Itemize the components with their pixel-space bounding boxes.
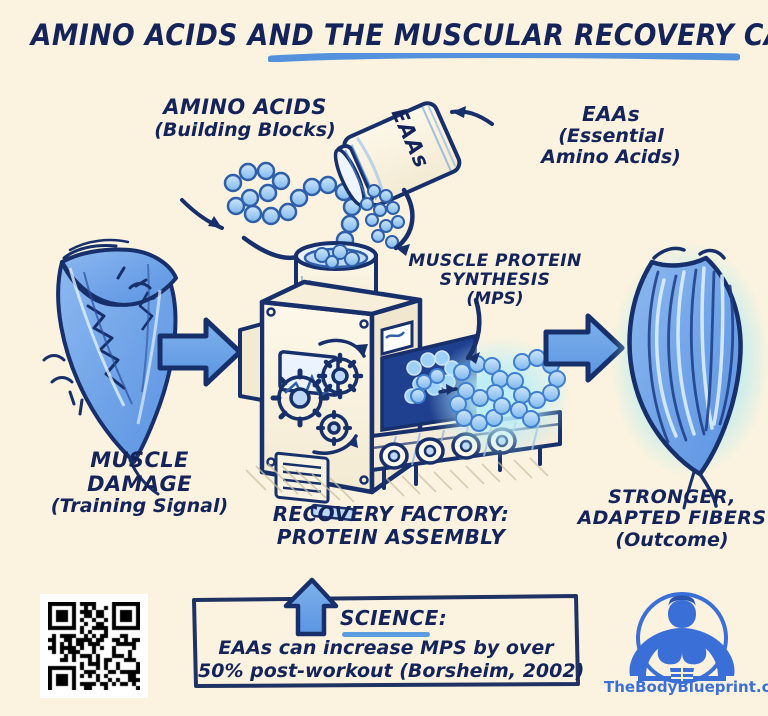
label-amino-acids-line2: (Building Blocks): [120, 120, 370, 141]
label-eaas-line2: (Essential: [496, 126, 726, 147]
brand-logo-text: TheBodyBlueprint.com: [604, 678, 760, 696]
label-mps-line3: (MPS): [400, 290, 590, 309]
label-muscle-damage: MUSCLE DAMAGE (Training Signal): [32, 449, 247, 518]
science-line1: EAAs can increase MPS by over: [198, 637, 574, 659]
label-recovery-factory-line2: PROTEIN ASSEMBLY: [246, 526, 536, 549]
label-amino-acids-line1: AMINO ACIDS: [120, 96, 370, 120]
science-line2: 50% post-workout (Borsheim, 2002): [198, 660, 574, 682]
qr-code[interactable]: [40, 594, 148, 698]
label-outcome-line3: (Outcome): [576, 530, 768, 551]
label-outcome: STRONGER, ADAPTED FIBERS (Outcome): [576, 487, 768, 551]
label-outcome-line2: ADAPTED FIBERS: [576, 508, 768, 529]
science-heading: SCIENCE:: [340, 606, 447, 630]
label-eaas-line3: Amino Acids): [496, 147, 726, 168]
label-amino-acids: AMINO ACIDS (Building Blocks): [120, 96, 370, 141]
label-eaas-line1: EAAs: [496, 103, 726, 126]
label-muscle-damage-line3: (Training Signal): [32, 496, 247, 517]
label-recovery-factory: RECOVERY FACTORY: PROTEIN ASSEMBLY: [246, 503, 536, 548]
label-muscle-damage-line2: DAMAGE: [32, 473, 247, 497]
infographic-canvas: AMINO ACIDS AND THE MUSCULAR RECOVERY CA…: [0, 0, 768, 716]
label-recovery-factory-line1: RECOVERY FACTORY:: [246, 503, 536, 526]
qr-code-canvas: [48, 602, 140, 690]
label-eaas: EAAs (Essential Amino Acids): [496, 103, 726, 169]
glowing-muscle-icon: [610, 242, 768, 508]
label-mps-line2: SYNTHESIS: [400, 271, 590, 290]
science-box: SCIENCE: EAAs can increase MPS by over 5…: [198, 598, 574, 684]
brand-logo[interactable]: TheBodyBlueprint.com: [604, 592, 760, 704]
label-outcome-line1: STRONGER,: [576, 487, 768, 508]
label-mps-line1: MUSCLE PROTEIN: [400, 252, 590, 271]
label-mps: MUSCLE PROTEIN SYNTHESIS (MPS): [400, 252, 590, 310]
label-muscle-damage-line1: MUSCLE: [32, 449, 247, 473]
